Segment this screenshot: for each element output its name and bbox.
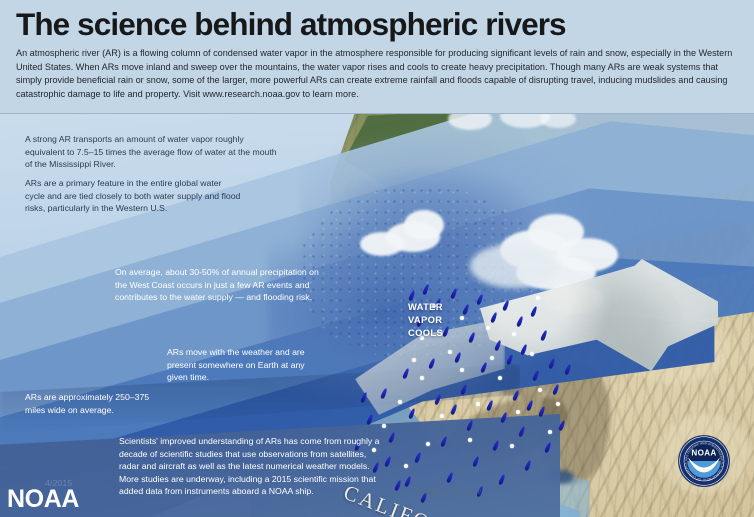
image-not-to-scale-note: Image not to scale: [415, 486, 481, 496]
annotation-precipitation: On average, about 30-50% of annual preci…: [115, 266, 320, 304]
wvc-line-2: VAPOR: [408, 314, 443, 327]
annotation-global-cycle: ARs are a primary feature in the entire …: [25, 177, 243, 215]
seal-noaa-text: NOAA: [691, 449, 716, 458]
intro-paragraph: An atmospheric river (AR) is a flowing c…: [16, 47, 738, 101]
infographic-root: The science behind atmospheric rivers An…: [0, 0, 754, 517]
noaa-seal-logo: NATIONAL OCEANIC AND ATMOSPHERIC ADM. U.…: [677, 434, 731, 488]
page-title: The science behind atmospheric rivers: [16, 6, 738, 42]
wvc-line-3: COOLS: [408, 327, 443, 340]
noaa-seal-svg: NATIONAL OCEANIC AND ATMOSPHERIC ADM. U.…: [677, 434, 731, 488]
annotation-width: ARs are approximately 250–375 miles wide…: [25, 391, 165, 416]
illustration-scene: WATER VAPOR COOLS CALIFORNIA A strong AR…: [0, 114, 754, 517]
cloud: [404, 210, 444, 240]
header: The science behind atmospheric rivers An…: [0, 0, 754, 114]
noaa-wordmark: NOAA: [7, 487, 79, 512]
water-vapor-cools-label: WATER VAPOR COOLS: [408, 301, 443, 339]
wvc-line-1: WATER: [408, 301, 443, 314]
annotation-mississippi: A strong AR transports an amount of wate…: [25, 133, 277, 171]
annotation-scientists: Scientists' improved understanding of AR…: [119, 435, 381, 498]
cloud: [360, 232, 404, 256]
annotation-weather: ARs move with the weather and are presen…: [167, 346, 327, 384]
